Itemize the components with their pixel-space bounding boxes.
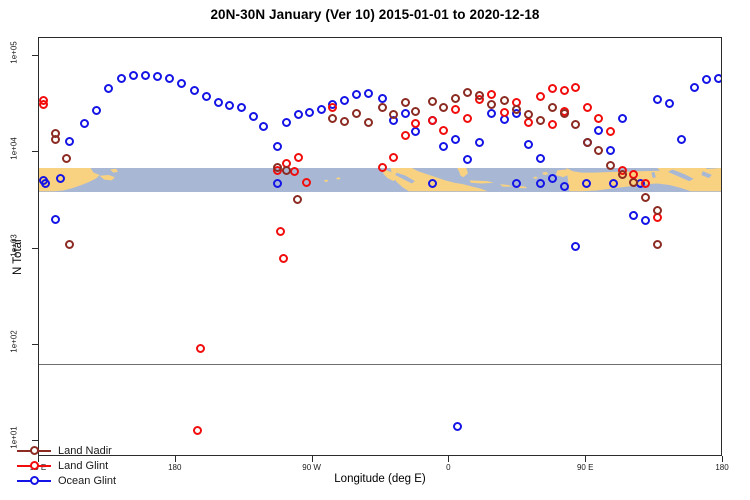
data-point-land-nadir [293, 195, 302, 204]
data-point-land-nadir [428, 97, 437, 106]
data-point-land-glint [524, 118, 533, 127]
x-tick-mark [312, 456, 313, 462]
y-tick-label: 1e+04 [10, 135, 19, 163]
x-tick-label: 180 [692, 463, 750, 472]
legend-item-land-nadir[interactable]: Land Nadir [17, 443, 116, 458]
data-point-ocean-glint [165, 74, 174, 83]
data-point-land-glint [487, 90, 496, 99]
data-point-land-glint [39, 100, 48, 109]
data-point-ocean-glint [317, 105, 326, 114]
data-point-ocean-glint [451, 135, 460, 144]
data-point-ocean-glint [177, 79, 186, 88]
data-point-land-nadir [352, 109, 361, 118]
data-point-ocean-glint [352, 90, 361, 99]
data-point-land-nadir [65, 240, 74, 249]
data-point-land-glint [536, 92, 545, 101]
panel-divider [39, 364, 721, 365]
data-point-land-glint [428, 116, 437, 125]
data-point-land-nadir [389, 110, 398, 119]
data-point-land-glint [571, 83, 580, 92]
data-point-land-nadir [500, 96, 509, 105]
data-point-ocean-glint [690, 83, 699, 92]
data-point-ocean-glint [618, 114, 627, 123]
data-point-land-glint [606, 127, 615, 136]
data-point-land-nadir [340, 117, 349, 126]
data-point-ocean-glint [594, 126, 603, 135]
data-point-ocean-glint [487, 109, 496, 118]
data-point-ocean-glint [378, 94, 387, 103]
data-point-ocean-glint [41, 179, 50, 188]
legend-label: Ocean Glint [51, 475, 116, 487]
data-point-land-glint [290, 167, 299, 176]
data-point-land-nadir [451, 94, 460, 103]
data-point-land-nadir [653, 240, 662, 249]
legend-item-land-glint[interactable]: Land Glint [17, 458, 116, 473]
data-point-land-nadir [641, 193, 650, 202]
data-point-ocean-glint [273, 142, 282, 151]
x-axis-label: Longitude (deg E) [38, 473, 722, 485]
data-point-land-nadir [653, 206, 662, 215]
y-tick-label: 1e+02 [10, 327, 19, 355]
data-point-land-glint [500, 108, 509, 117]
data-point-land-glint [451, 105, 460, 114]
data-point-ocean-glint [259, 122, 268, 131]
x-tick-mark [722, 456, 723, 462]
data-point-ocean-glint [714, 74, 721, 83]
data-point-land-nadir [463, 88, 472, 97]
data-point-land-glint [294, 153, 303, 162]
data-point-land-nadir [524, 110, 533, 119]
x-tick-label: 90 W [282, 463, 342, 472]
data-point-ocean-glint [606, 146, 615, 155]
data-point-ocean-glint [653, 95, 662, 104]
legend-item-ocean-glint[interactable]: Ocean Glint [17, 473, 116, 488]
plot-frame [38, 37, 722, 456]
data-point-land-glint [411, 119, 420, 128]
data-point-ocean-glint [641, 216, 650, 225]
data-point-land-glint [463, 114, 472, 123]
legend-marker-icon [17, 459, 51, 472]
legend-marker-icon [17, 474, 51, 487]
plot-area [39, 38, 721, 455]
chart-title: 20N-30N January (Ver 10) 2015-01-01 to 2… [0, 7, 750, 22]
y-tick-mark [32, 344, 38, 345]
x-tick-label: 180 [145, 463, 205, 472]
data-point-land-nadir [618, 170, 627, 179]
legend-label: Land Glint [51, 460, 108, 472]
chart-root: 20N-30N January (Ver 10) 2015-01-01 to 2… [0, 0, 750, 500]
data-point-land-nadir [439, 103, 448, 112]
data-point-ocean-glint [282, 118, 291, 127]
data-point-ocean-glint [401, 109, 410, 118]
data-point-ocean-glint [65, 137, 74, 146]
data-point-land-glint [328, 103, 337, 112]
data-point-ocean-glint [665, 99, 674, 108]
data-point-ocean-glint [548, 174, 557, 183]
x-tick-label: 90 E [555, 463, 615, 472]
data-point-ocean-glint [305, 108, 314, 117]
data-point-land-glint [548, 84, 557, 93]
data-point-land-glint [583, 103, 592, 112]
data-point-ocean-glint [560, 182, 569, 191]
data-point-land-nadir [401, 98, 410, 107]
data-point-land-nadir [583, 138, 592, 147]
data-point-ocean-glint [364, 89, 373, 98]
data-point-land-glint [560, 86, 569, 95]
data-point-ocean-glint [249, 112, 258, 121]
data-point-land-glint [594, 114, 603, 123]
data-point-ocean-glint [702, 75, 711, 84]
data-point-ocean-glint [214, 98, 223, 107]
data-point-ocean-glint [411, 127, 420, 136]
data-point-ocean-glint [141, 71, 150, 80]
data-point-land-glint [276, 227, 285, 236]
data-point-ocean-glint [80, 119, 89, 128]
data-point-land-glint [439, 126, 448, 135]
data-point-land-glint [196, 344, 205, 353]
data-point-ocean-glint [190, 86, 199, 95]
data-point-ocean-glint [237, 103, 246, 112]
data-point-ocean-glint [202, 92, 211, 101]
data-point-ocean-glint [475, 138, 484, 147]
data-point-land-nadir [536, 116, 545, 125]
data-point-ocean-glint [453, 422, 462, 431]
y-tick-mark [32, 151, 38, 152]
data-point-land-glint [401, 131, 410, 140]
data-point-ocean-glint [571, 242, 580, 251]
data-point-land-nadir [62, 154, 71, 163]
data-point-ocean-glint [56, 174, 65, 183]
data-point-land-nadir [571, 120, 580, 129]
data-point-ocean-glint [294, 110, 303, 119]
x-tick-mark [448, 456, 449, 462]
y-tick-mark [32, 55, 38, 56]
data-point-land-nadir [411, 107, 420, 116]
data-point-land-nadir [548, 103, 557, 112]
data-point-ocean-glint [153, 72, 162, 81]
data-point-land-glint [389, 153, 398, 162]
data-point-land-nadir [328, 114, 337, 123]
data-point-ocean-glint [104, 84, 113, 93]
data-point-land-nadir [378, 103, 387, 112]
data-point-ocean-glint [677, 135, 686, 144]
data-point-land-glint [279, 254, 288, 263]
data-point-ocean-glint [439, 142, 448, 151]
data-point-ocean-glint [524, 140, 533, 149]
data-point-land-glint [193, 426, 202, 435]
x-tick-mark [175, 456, 176, 462]
data-point-land-glint [302, 178, 311, 187]
data-point-ocean-glint [117, 74, 126, 83]
data-point-ocean-glint [129, 71, 138, 80]
data-point-land-glint [548, 120, 557, 129]
data-point-land-nadir [594, 146, 603, 155]
data-point-land-nadir [364, 118, 373, 127]
data-point-ocean-glint [582, 179, 591, 188]
legend-marker-icon [17, 444, 51, 457]
y-tick-mark [32, 248, 38, 249]
x-tick-label: 0 [418, 463, 478, 472]
data-point-ocean-glint [51, 215, 60, 224]
data-point-ocean-glint [92, 106, 101, 115]
data-point-land-nadir [487, 100, 496, 109]
data-point-ocean-glint [463, 155, 472, 164]
chart-legend: Land NadirLand GlintOcean Glint [13, 441, 120, 490]
y-tick-label: 1e+03 [10, 231, 19, 259]
data-point-ocean-glint [536, 154, 545, 163]
y-tick-label: 1e+05 [10, 39, 19, 67]
data-point-ocean-glint [225, 101, 234, 110]
data-point-ocean-glint [340, 96, 349, 105]
data-point-land-nadir [560, 109, 569, 118]
x-tick-mark [585, 456, 586, 462]
legend-label: Land Nadir [51, 445, 112, 457]
data-point-land-nadir [51, 135, 60, 144]
data-point-ocean-glint [629, 211, 638, 220]
